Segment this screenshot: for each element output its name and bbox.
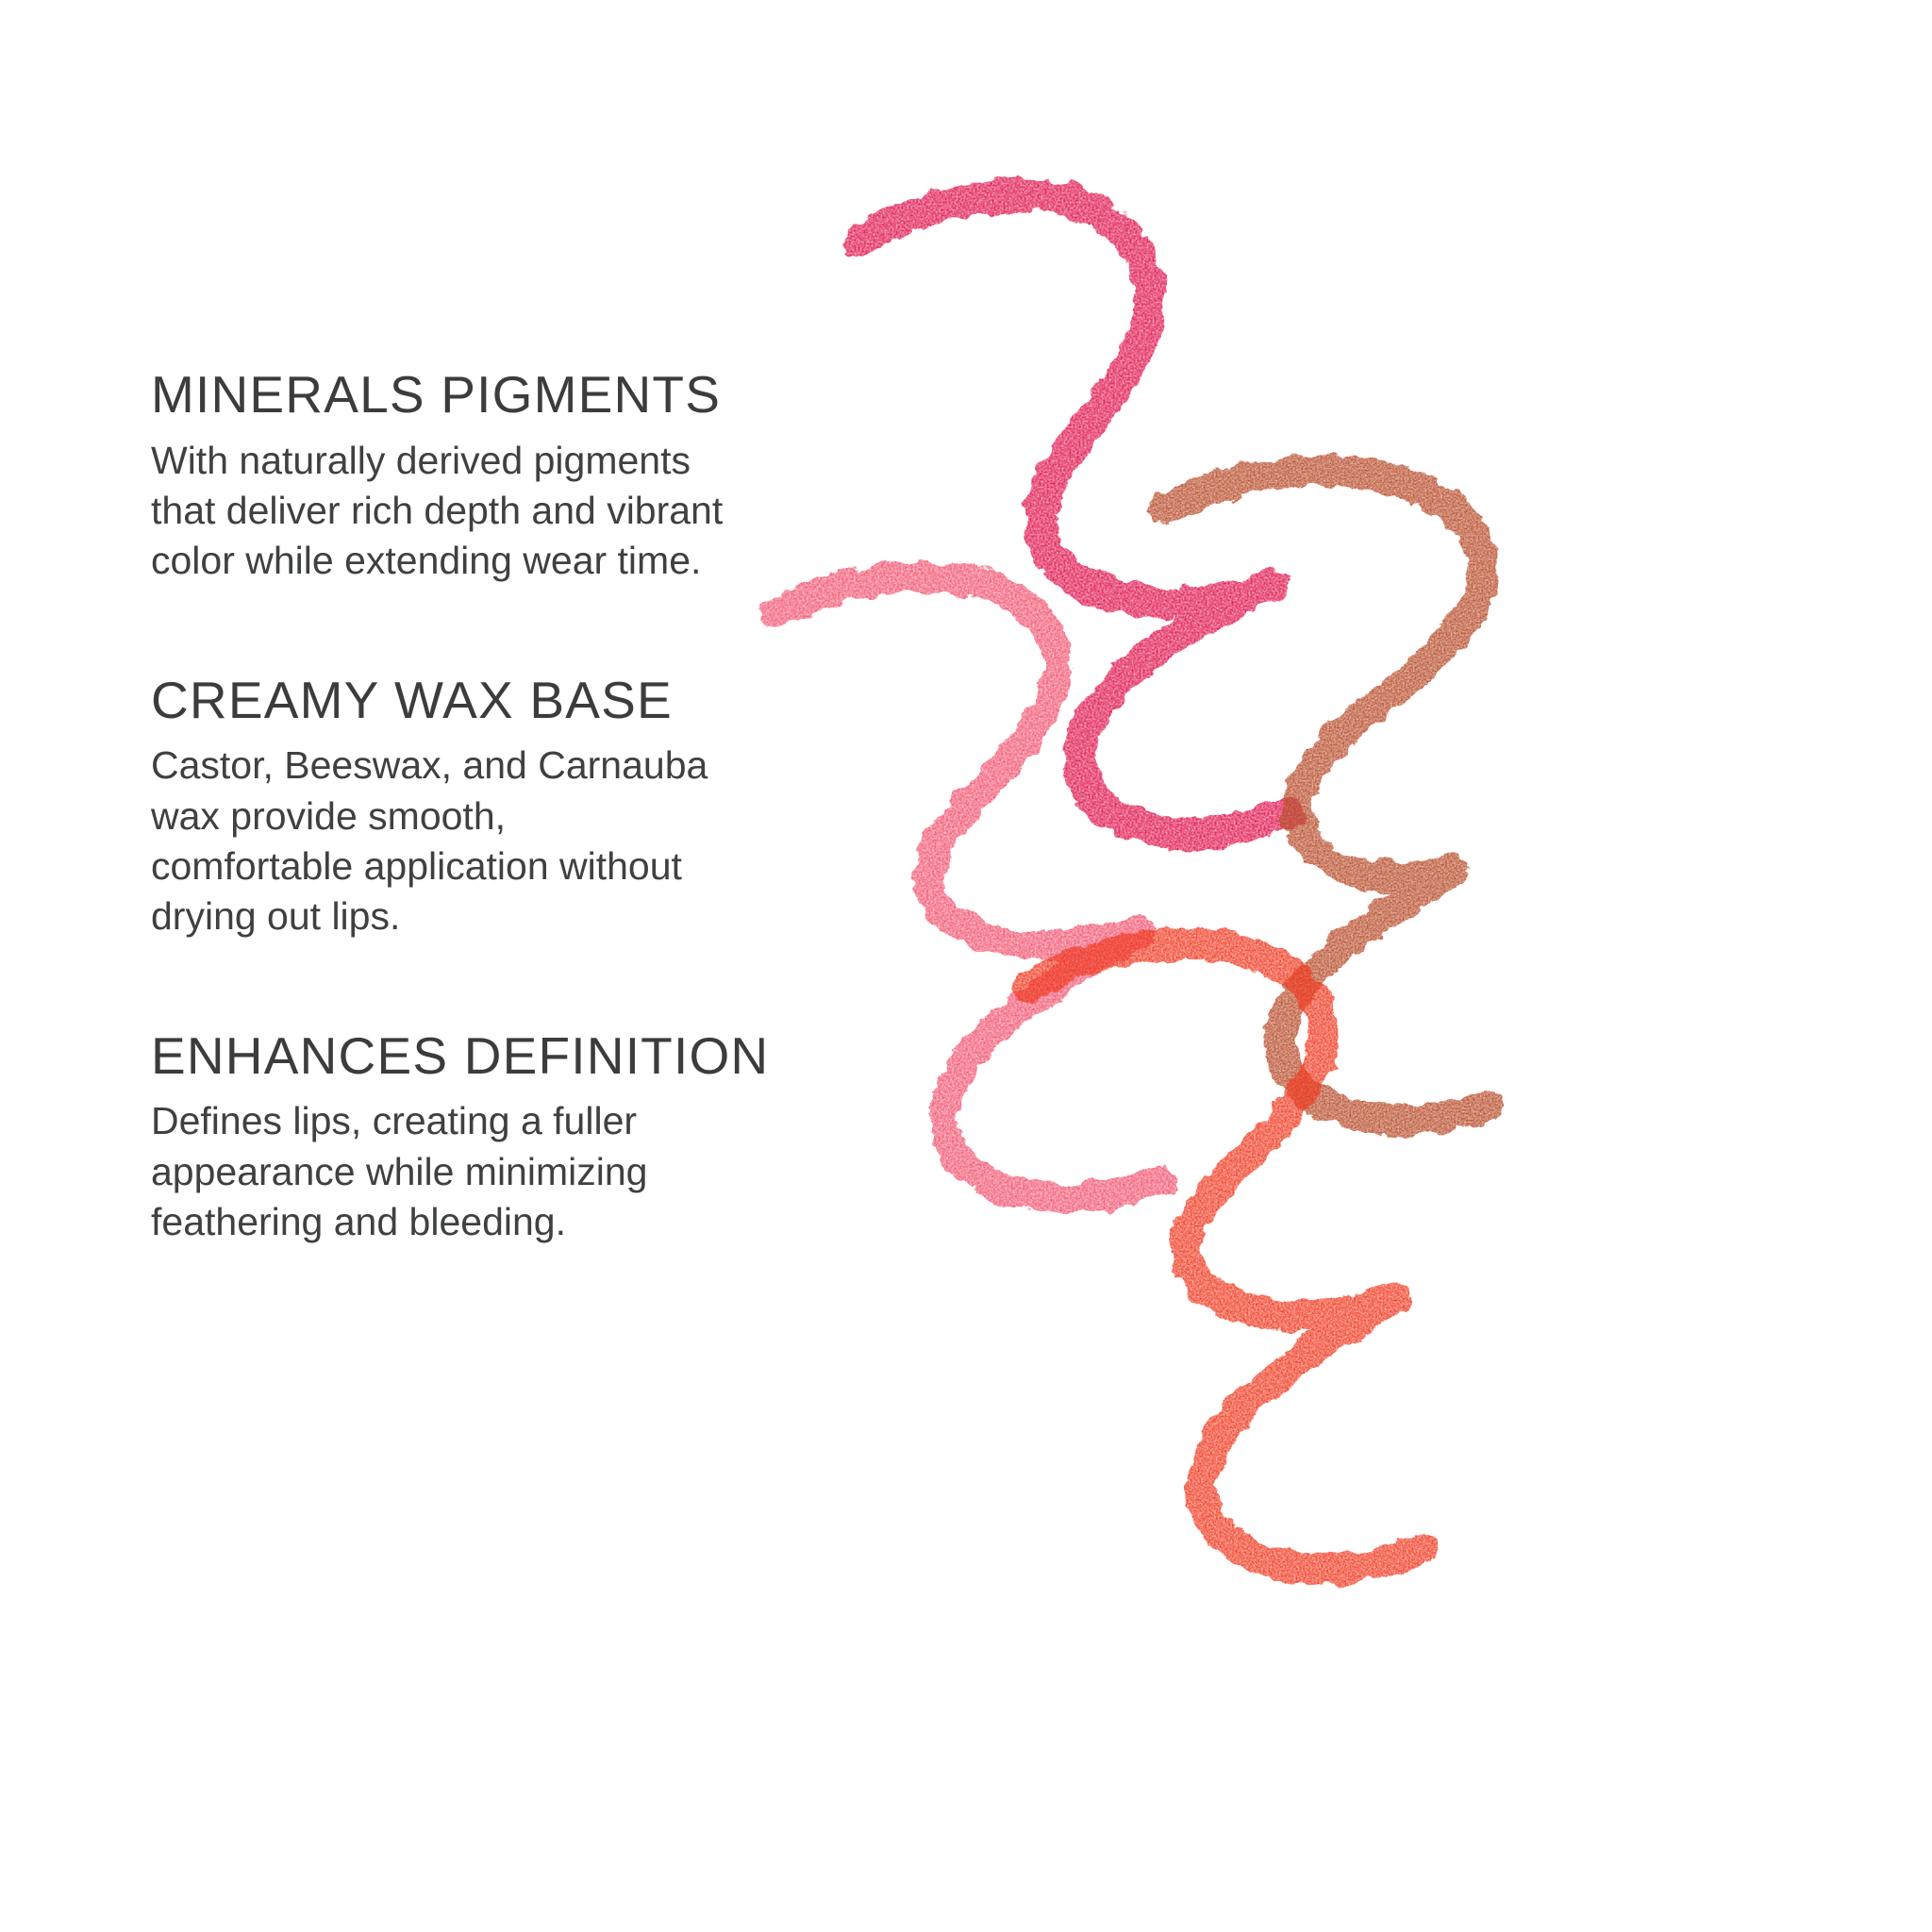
infographic-canvas: MINERALS PIGMENTS With naturally derived… (0, 0, 1932, 1932)
feature-creamy-wax-base: CREAMY WAX BASE Castor, Beeswax, and Car… (151, 674, 896, 942)
swatch-artwork (962, 170, 1906, 1774)
crayon-stroke-orange-red (1028, 943, 1423, 1570)
feature-body-creamy-wax-base: Castor, Beeswax, and Carnauba wax provid… (151, 741, 868, 941)
feature-list: MINERALS PIGMENTS With naturally derived… (151, 368, 896, 1247)
feature-title-minerals-pigments: MINERALS PIGMENTS (151, 368, 896, 423)
crayon-stroke-crimson (858, 194, 1288, 833)
feature-title-creamy-wax-base: CREAMY WAX BASE (151, 674, 896, 728)
feature-body-enhances-definition: Defines lips, creating a fuller appearan… (151, 1096, 868, 1247)
feature-minerals-pigments: MINERALS PIGMENTS With naturally derived… (151, 368, 896, 587)
feature-title-enhances-definition: ENHANCES DEFINITION (151, 1029, 896, 1084)
feature-enhances-definition: ENHANCES DEFINITION Defines lips, creati… (151, 1029, 896, 1248)
swatch-svg (962, 170, 1906, 1774)
feature-body-minerals-pigments: With naturally derived pigments that del… (151, 436, 868, 587)
